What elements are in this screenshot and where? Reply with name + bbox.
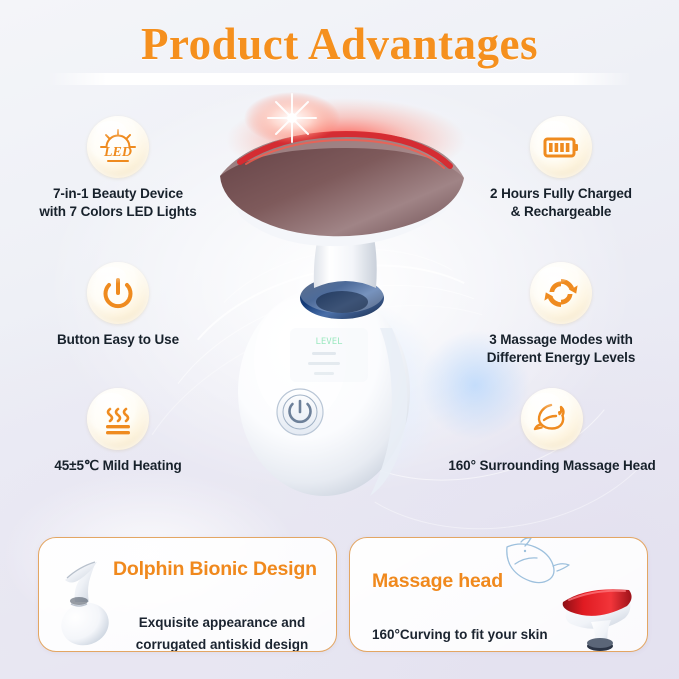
feature-surrounding-head: 160° Surrounding Massage Head	[425, 388, 679, 475]
heating-waves-icon	[87, 388, 149, 450]
feature-label: 2 Hours Fully Charged & Rechargeable	[451, 185, 671, 221]
card-body: 160°Curving to fit your skin perfectly &…	[372, 600, 562, 652]
badge-circle	[521, 388, 583, 450]
title-underline-bar	[48, 73, 631, 85]
feature-label: 45±5℃ Mild Heating	[8, 457, 228, 475]
badge-circle	[87, 388, 149, 450]
page-title-block: Product Advantages	[0, 18, 679, 80]
page-title: Product Advantages	[0, 18, 679, 70]
card-title: Dolphin Bionic Design	[113, 558, 317, 581]
svg-text:LEVEL: LEVEL	[315, 337, 342, 347]
feature-massage-modes: 3 Massage Modes with Different Energy Le…	[451, 262, 671, 367]
card-massage-head: Massage head 160°Curving to fit your ski…	[349, 537, 648, 652]
feature-mild-heating: 45±5℃ Mild Heating	[8, 388, 228, 475]
card-body: Exquisite appearance and corrugated anti…	[117, 590, 327, 652]
badge-circle	[530, 116, 592, 178]
product-advantages-infographic: Product Advantages	[0, 0, 679, 679]
power-button-icon	[87, 262, 149, 324]
battery-icon	[530, 116, 592, 178]
feature-label: 7-in-1 Beauty Device with 7 Colors LED L…	[8, 185, 228, 221]
badge-circle	[87, 262, 149, 324]
card-body-text: Exquisite appearance and corrugated anti…	[136, 615, 309, 652]
feature-label: 3 Massage Modes with Different Energy Le…	[451, 331, 671, 367]
massage-head-photo	[553, 580, 645, 652]
feature-battery: 2 Hours Fully Charged & Rechargeable	[451, 116, 671, 221]
feature-label: Button Easy to Use	[8, 331, 228, 349]
feature-easy-button: Button Easy to Use	[8, 262, 228, 349]
card-dolphin-bionic-design: Dolphin Bionic Design Exquisite appearan…	[38, 537, 337, 652]
card-title: Massage head	[372, 570, 503, 593]
badge-circle	[530, 262, 592, 324]
feature-led-lights: LED 7-in-1 Beauty Device with 7 Colors L…	[8, 116, 228, 221]
led-sun-icon: LED	[87, 116, 149, 178]
feature-label: 160° Surrounding Massage Head	[425, 457, 679, 475]
badge-circle: LED	[87, 116, 149, 178]
svg-text:LED: LED	[103, 145, 132, 160]
dolphin-icon	[521, 388, 583, 450]
card-body-text: 160°Curving to fit your skin perfectly &…	[372, 627, 550, 652]
refresh-cycle-icon	[530, 262, 592, 324]
